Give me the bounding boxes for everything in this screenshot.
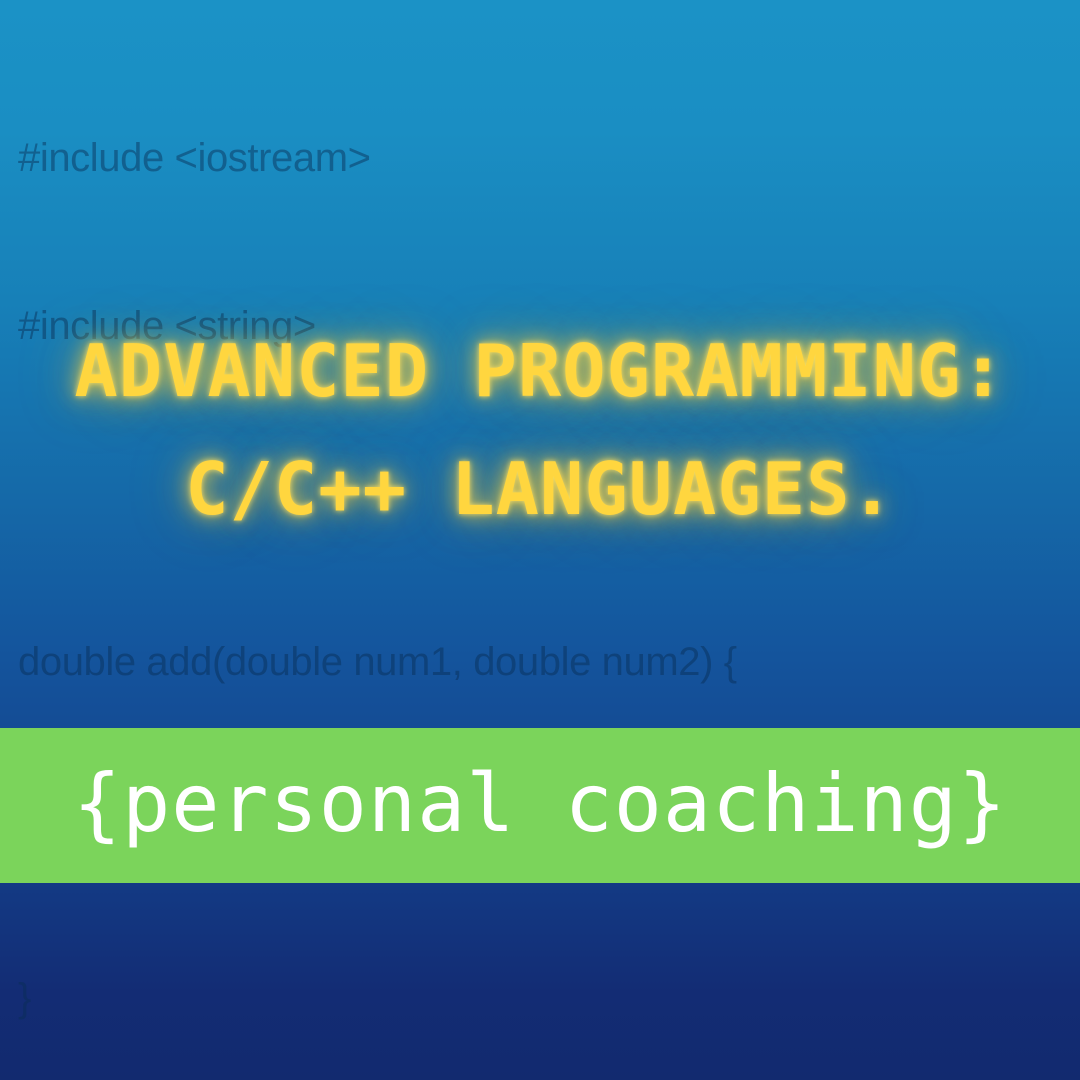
code-line: double add(double num1, double num2) { <box>18 634 1080 690</box>
coaching-banner: {personal coaching} <box>0 728 1080 883</box>
coaching-banner-label: {personal coaching} <box>73 764 1007 844</box>
page-title-line-1: ADVANCED PROGRAMMING: <box>0 312 1080 430</box>
page-title: ADVANCED PROGRAMMING: C/C++ LANGUAGES. <box>0 312 1080 548</box>
page-title-line-2: C/C++ LANGUAGES. <box>0 430 1080 548</box>
poster-canvas: #include <iostream> #include <string> do… <box>0 0 1080 1080</box>
code-line: #include <iostream> <box>18 130 1080 186</box>
code-line: } <box>18 970 1080 1026</box>
